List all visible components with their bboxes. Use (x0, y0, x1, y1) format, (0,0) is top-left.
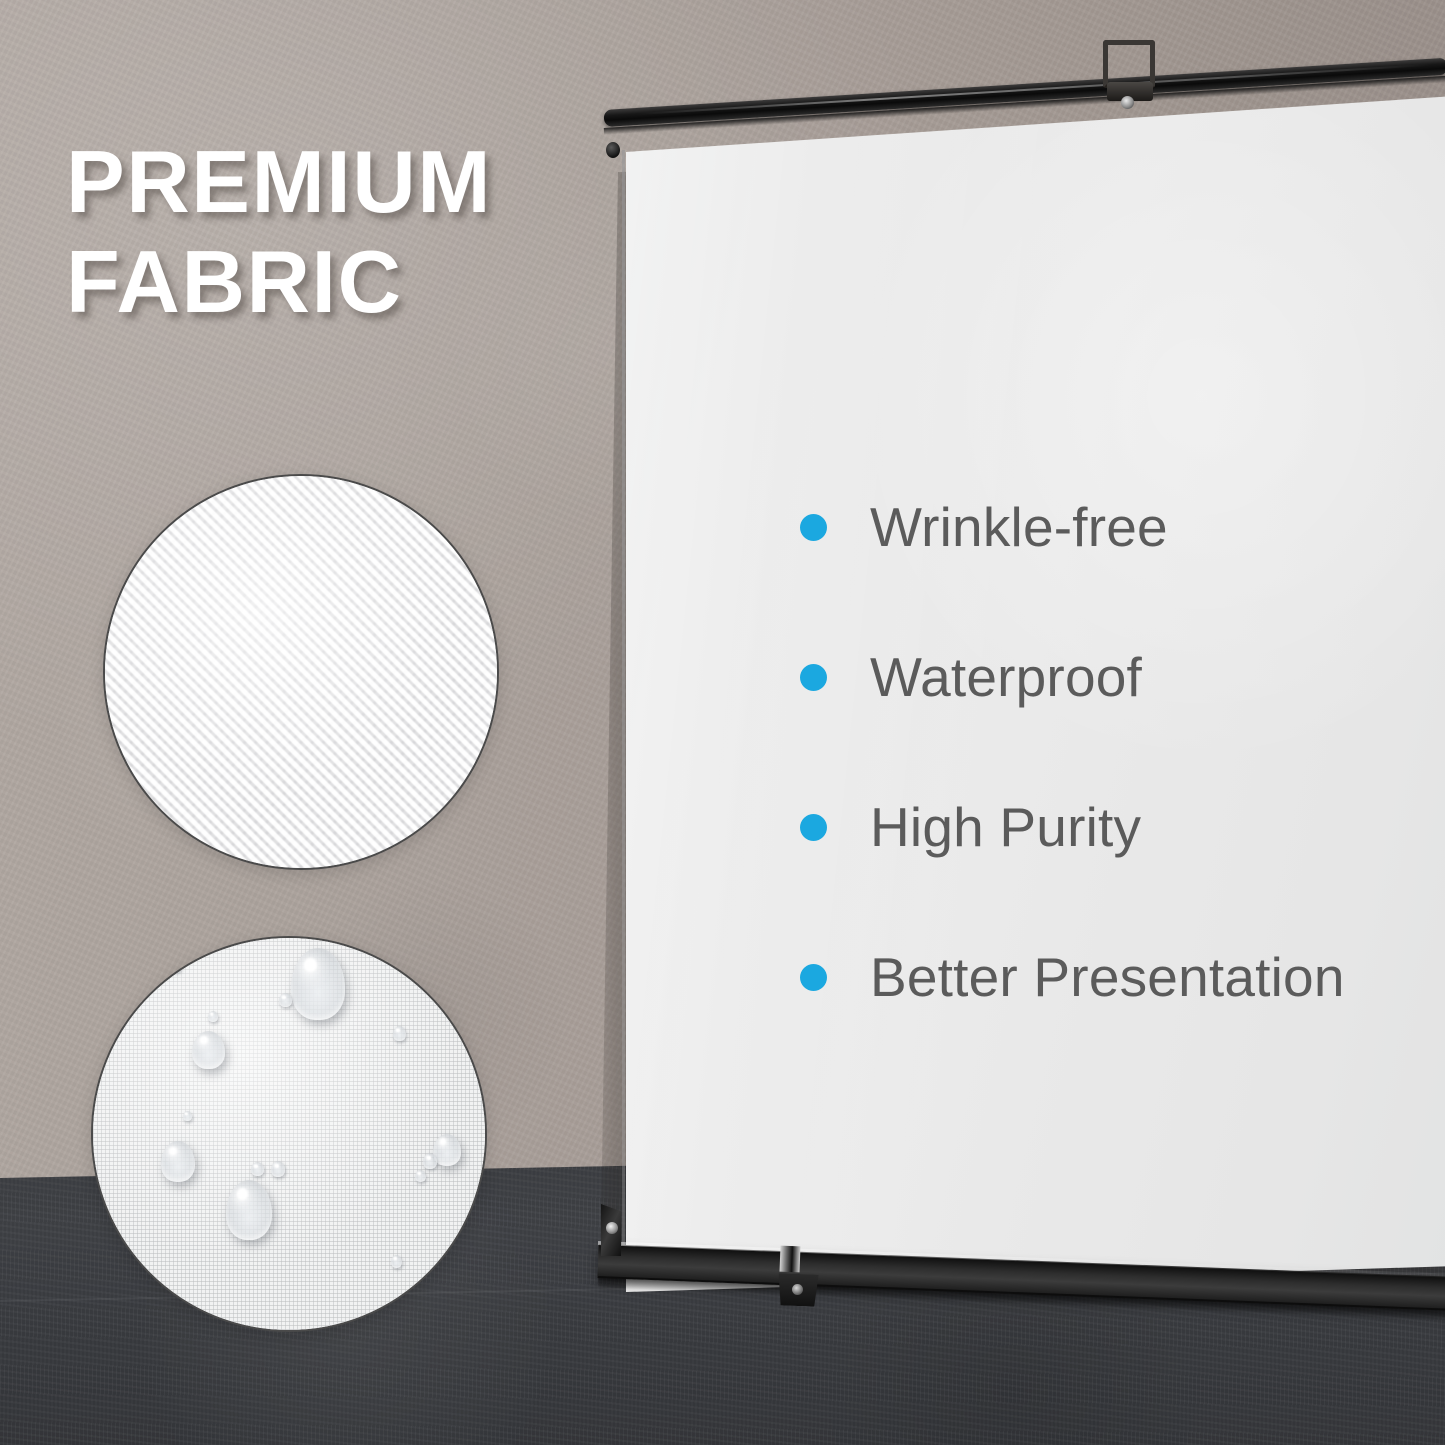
water-droplet-small (171, 961, 181, 972)
page-title-line-1: PREMIUM (66, 132, 626, 232)
water-droplet (226, 1180, 272, 1240)
water-droplet-small (183, 1111, 192, 1121)
page-title: PREMIUM FABRIC (66, 132, 626, 333)
water-droplet (161, 1141, 195, 1182)
feature-item-wrinkle-free: Wrinkle-free (800, 452, 1400, 602)
water-droplet-small (393, 1026, 406, 1041)
leg-bracket-screw (606, 1222, 618, 1234)
water-droplet-small (251, 1162, 264, 1176)
fabric-highlight (105, 476, 497, 868)
feature-item-better-presentation: Better Presentation (800, 902, 1400, 1052)
screen-left-edge (622, 150, 625, 1250)
water-droplet (433, 1134, 461, 1166)
feature-list: Wrinkle-free Waterproof High Purity Bett… (800, 452, 1400, 1052)
water-droplet-small (271, 1161, 285, 1177)
water-droplet-small (391, 1255, 402, 1268)
top-rod (604, 58, 1445, 154)
water-droplet-small (415, 1170, 426, 1182)
feature-item-waterproof: Waterproof (800, 602, 1400, 752)
water-droplet-small (279, 993, 292, 1007)
bullet-dot-icon (800, 964, 827, 991)
top-rod-end-cap (606, 142, 620, 158)
woven-fabric-closeup (103, 474, 499, 870)
page-title-line-2: FABRIC (66, 232, 626, 332)
bullet-dot-icon (800, 814, 827, 841)
feature-label: High Purity (870, 795, 1141, 859)
hook-screw (1121, 96, 1134, 109)
feature-label: Better Presentation (870, 945, 1345, 1009)
water-droplet (192, 1031, 225, 1069)
water-droplets-closeup (91, 936, 487, 1332)
top-rod-bar (603, 58, 1445, 127)
feature-label: Wrinkle-free (870, 495, 1168, 559)
bullet-dot-icon (800, 514, 827, 541)
water-droplet-small (208, 1011, 218, 1022)
product-feature-banner: PREMIUM FABRIC (0, 0, 1445, 1445)
hanging-hook-icon (1103, 40, 1155, 88)
water-droplet (291, 948, 345, 1020)
center-clip (780, 1246, 801, 1273)
center-tab-screw (792, 1284, 803, 1295)
water-droplet-small (423, 1153, 437, 1169)
feature-item-high-purity: High Purity (800, 752, 1400, 902)
feature-label: Waterproof (870, 645, 1142, 709)
bullet-dot-icon (800, 664, 827, 691)
hook-frame (1103, 40, 1155, 88)
bottom-bar (598, 1236, 1445, 1296)
